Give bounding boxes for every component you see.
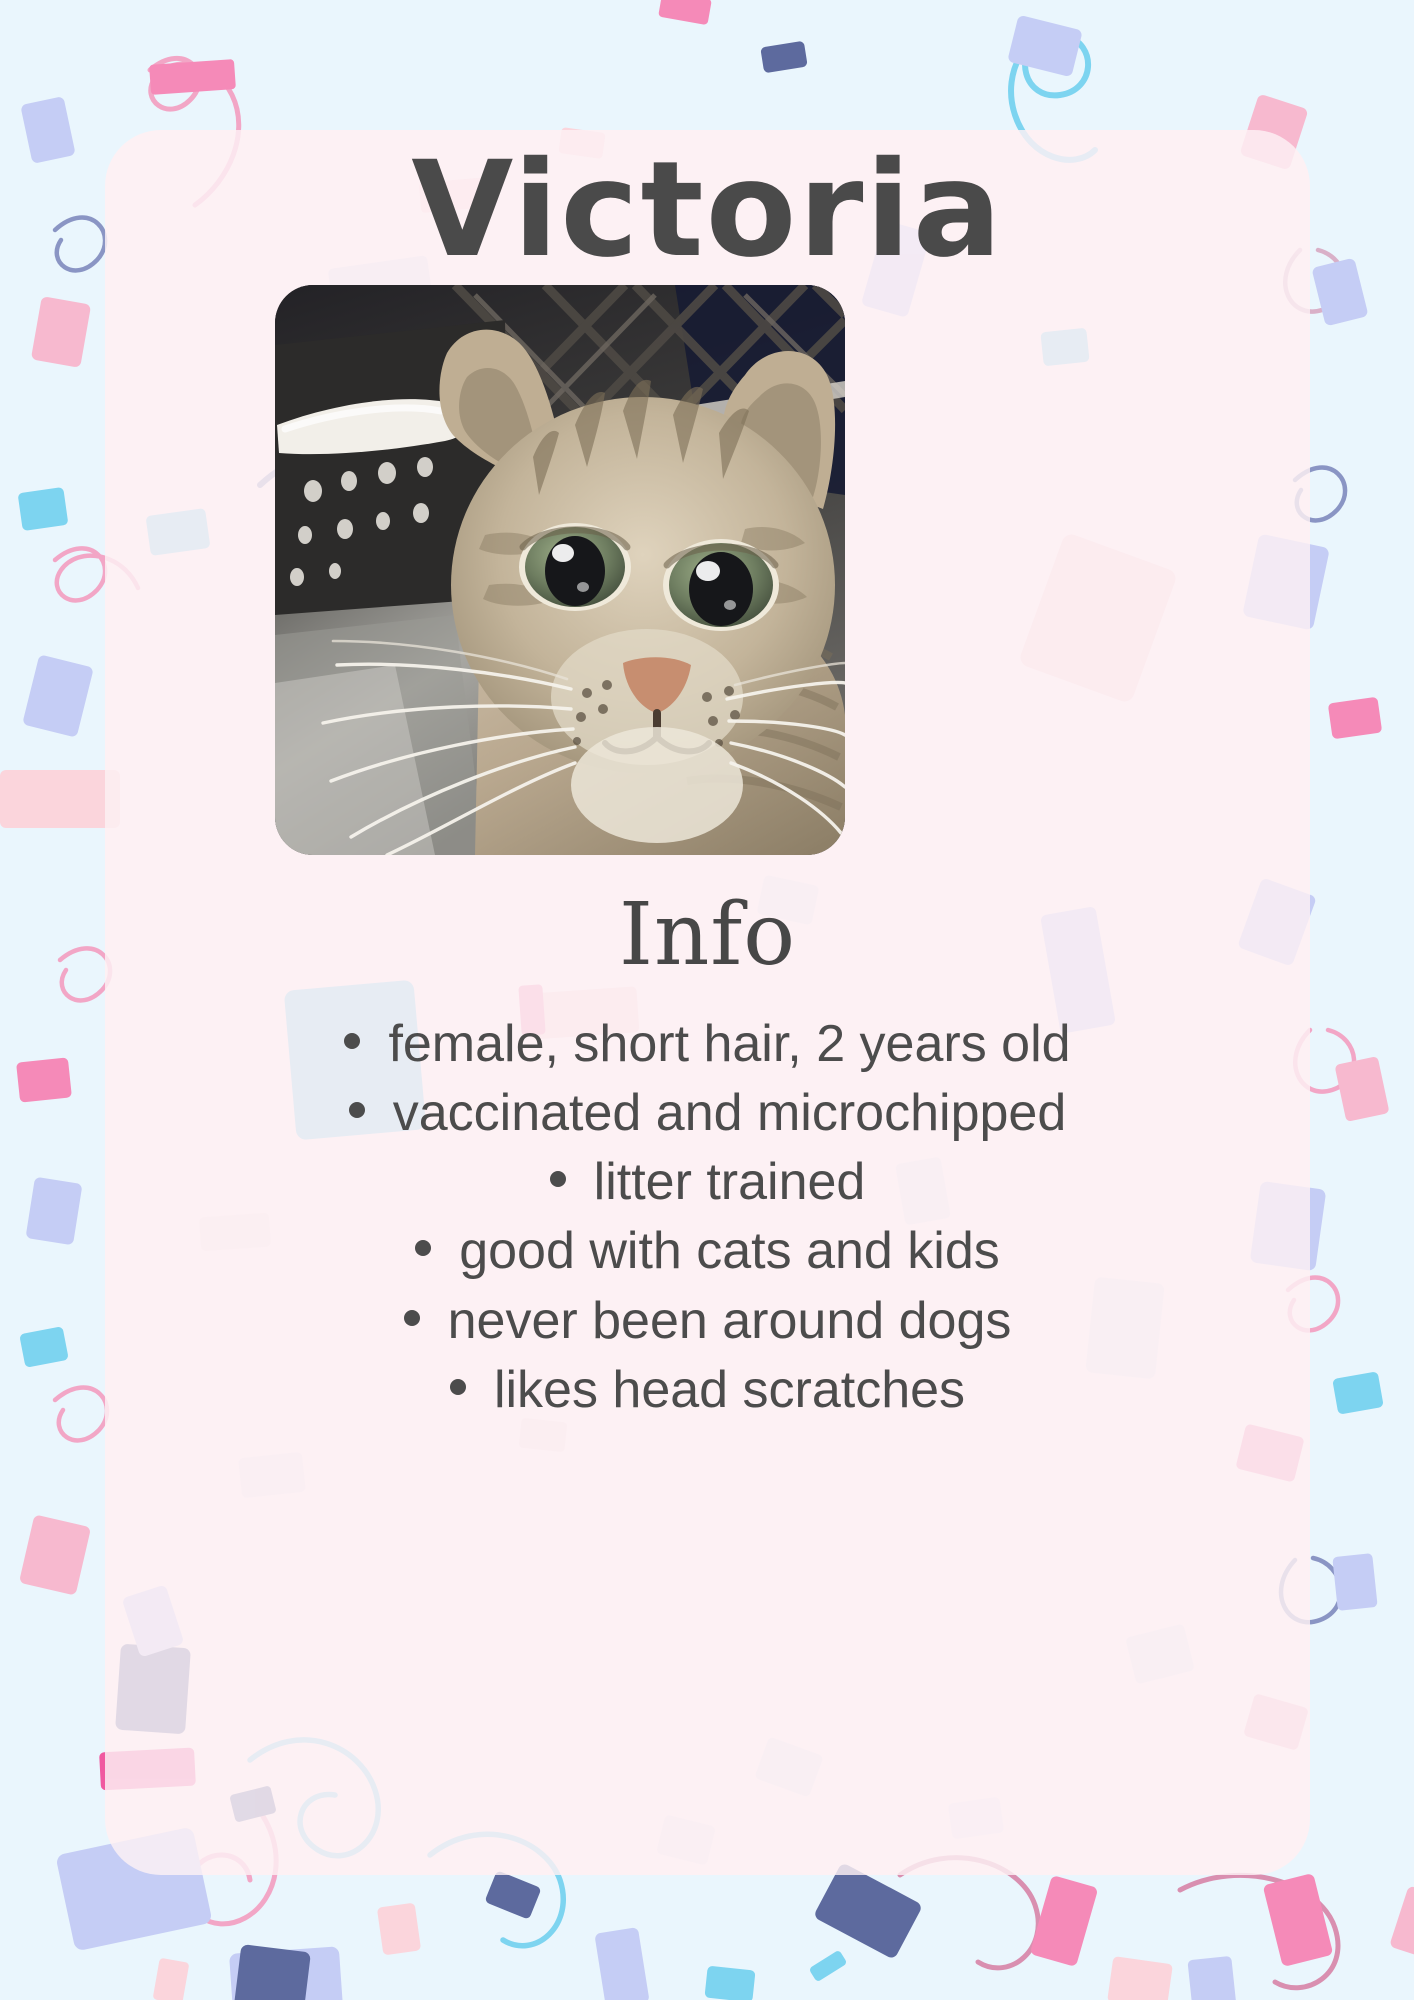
info-heading: Info xyxy=(105,892,1310,978)
bullet-icon xyxy=(550,1171,566,1187)
list-item-label: female, short hair, 2 years old xyxy=(388,1010,1070,1079)
list-item-label: good with cats and kids xyxy=(459,1217,1000,1286)
list-item-label: vaccinated and microchipped xyxy=(393,1079,1067,1148)
bullet-icon xyxy=(450,1379,466,1395)
list-item-label: litter trained xyxy=(594,1148,866,1217)
pet-photo xyxy=(275,285,845,855)
bullet-icon xyxy=(349,1102,365,1118)
pet-adoption-poster: Victoria xyxy=(0,0,1414,2000)
bullet-icon xyxy=(404,1310,420,1326)
info-card: Victoria xyxy=(105,130,1310,1875)
list-item: never been around dogs xyxy=(404,1287,1012,1356)
list-item: female, short hair, 2 years old xyxy=(344,1010,1070,1079)
list-item: likes head scratches xyxy=(450,1356,965,1425)
info-list: female, short hair, 2 years old vaccinat… xyxy=(105,1010,1310,1425)
page-title: Victoria xyxy=(105,144,1310,276)
list-item: litter trained xyxy=(550,1148,866,1217)
bullet-icon xyxy=(415,1240,431,1256)
list-item: good with cats and kids xyxy=(415,1217,1000,1286)
pet-photo-image xyxy=(275,285,845,855)
bullet-icon xyxy=(344,1033,360,1049)
list-item: vaccinated and microchipped xyxy=(349,1079,1067,1148)
list-item-label: never been around dogs xyxy=(448,1287,1012,1356)
list-item-label: likes head scratches xyxy=(494,1356,965,1425)
